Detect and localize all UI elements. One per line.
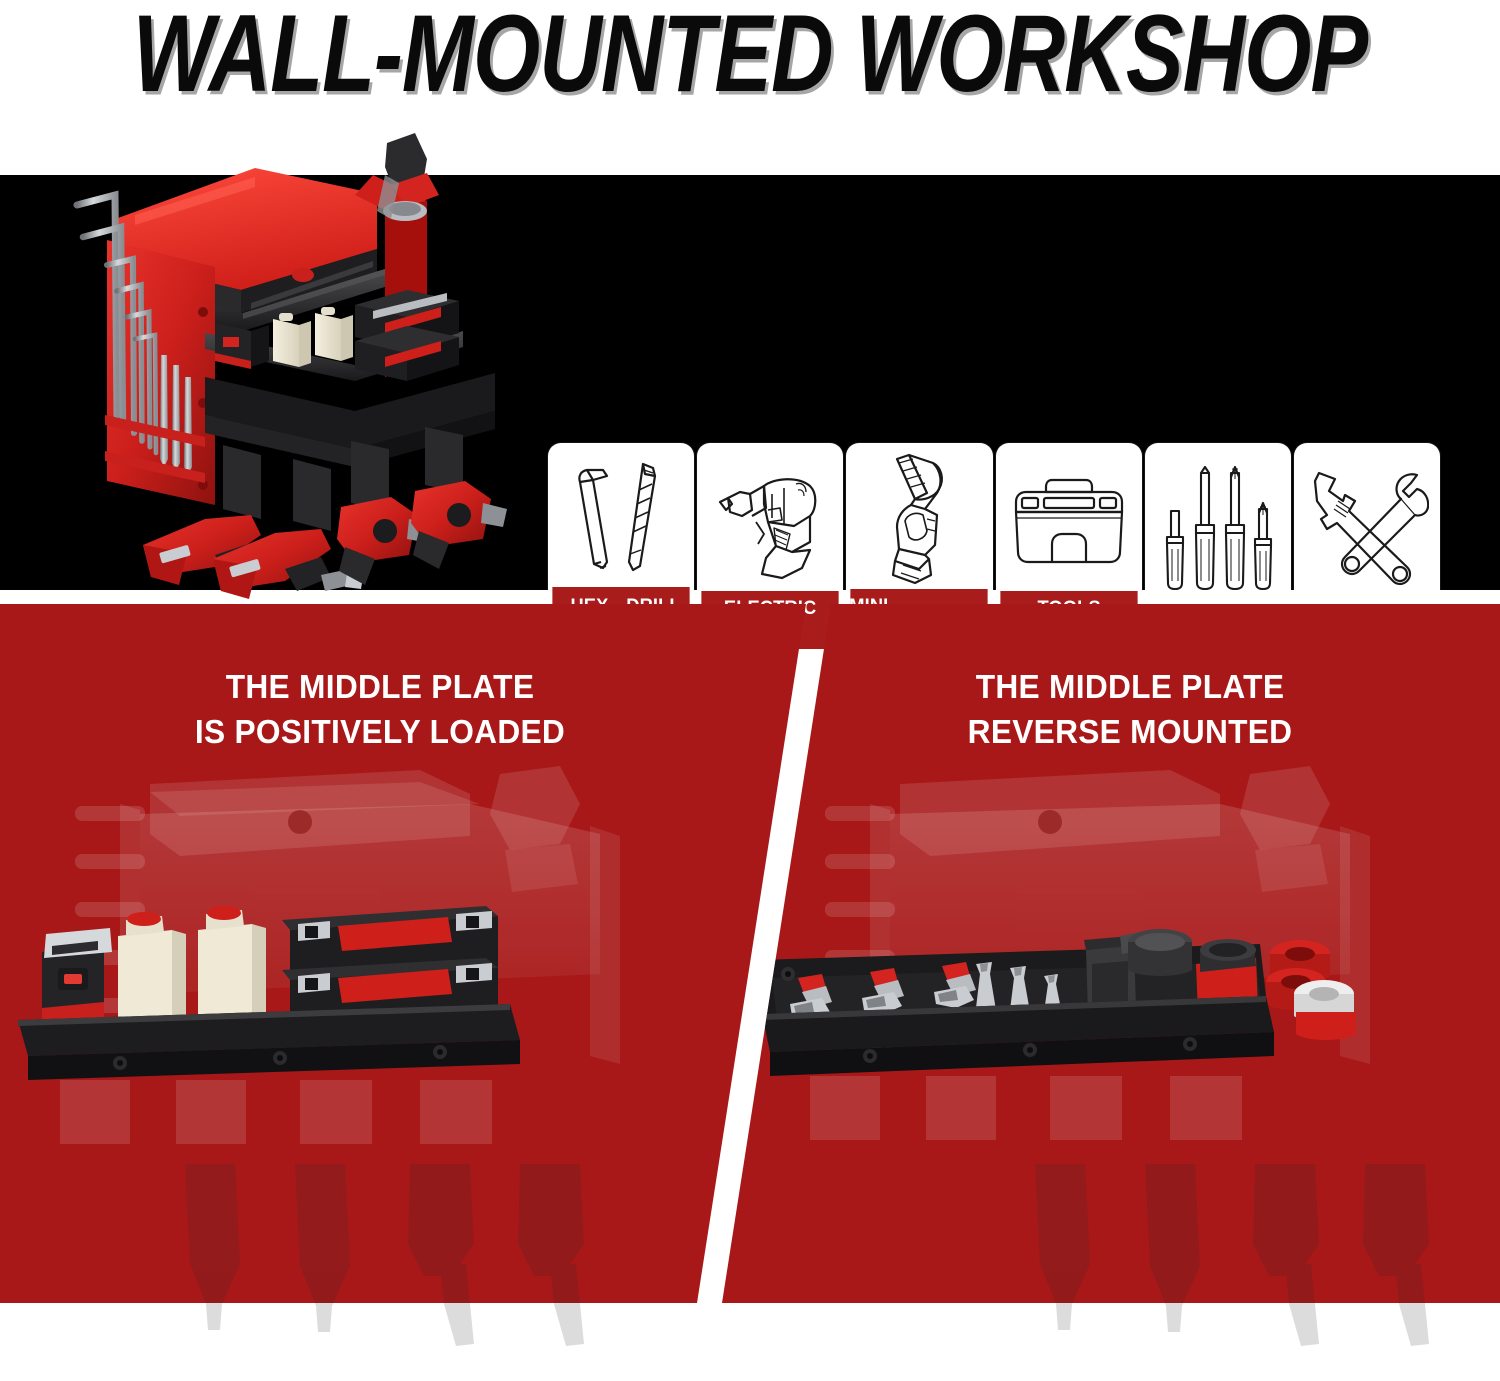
page-title: WALL-MOUNTED WORKSHOP bbox=[53, 0, 1448, 116]
product-photo bbox=[55, 115, 555, 635]
heading-line-1: THE MIDDLE PLATE bbox=[976, 668, 1285, 705]
ghost-drills bbox=[810, 1076, 1242, 1140]
panel-left-heading: THE MIDDLE PLATE IS POSITIVELY LOADED bbox=[0, 664, 778, 754]
panel-left-illustration bbox=[0, 764, 830, 1303]
comparison-panel-left: THE MIDDLE PLATE IS POSITIVELY LOADED bbox=[0, 604, 830, 1303]
heading-line-2: REVERSE MOUNTED bbox=[968, 713, 1293, 750]
comparison-panels: THE MIDDLE PLATE IS POSITIVELY LOADED bbox=[0, 604, 1500, 1304]
screwdriver-icon bbox=[1145, 443, 1291, 605]
electric-drill-icon bbox=[697, 443, 843, 591]
comparison-panel-right: THE MIDDLE PLATE REVERSE MOUNTED bbox=[700, 604, 1500, 1303]
rack-positive-loaded-diagram bbox=[0, 764, 830, 1303]
tool-rack-illustration bbox=[55, 115, 555, 635]
hero-band: HEX KEY / DRILL BIT bbox=[0, 175, 1500, 590]
panel-right-illustration bbox=[700, 764, 1500, 1303]
hex-key-drill-bit-icon bbox=[548, 443, 694, 587]
mini-chainsaw-icon bbox=[846, 443, 992, 589]
rack-reverse-mounted-diagram bbox=[700, 764, 1500, 1303]
heading-line-1: THE MIDDLE PLATE bbox=[226, 668, 535, 705]
ghost-drills bbox=[60, 1080, 492, 1144]
heading-line-2: IS POSITIVELY LOADED bbox=[195, 713, 565, 750]
battery-pack bbox=[42, 928, 112, 1028]
tool-cases bbox=[355, 290, 459, 381]
wrench-icon bbox=[1294, 443, 1440, 605]
panel-right-heading: THE MIDDLE PLATE REVERSE MOUNTED bbox=[746, 664, 1500, 754]
angle-grinder bbox=[377, 133, 439, 221]
tool-box-icon bbox=[996, 443, 1142, 591]
battery-pack bbox=[215, 323, 269, 369]
